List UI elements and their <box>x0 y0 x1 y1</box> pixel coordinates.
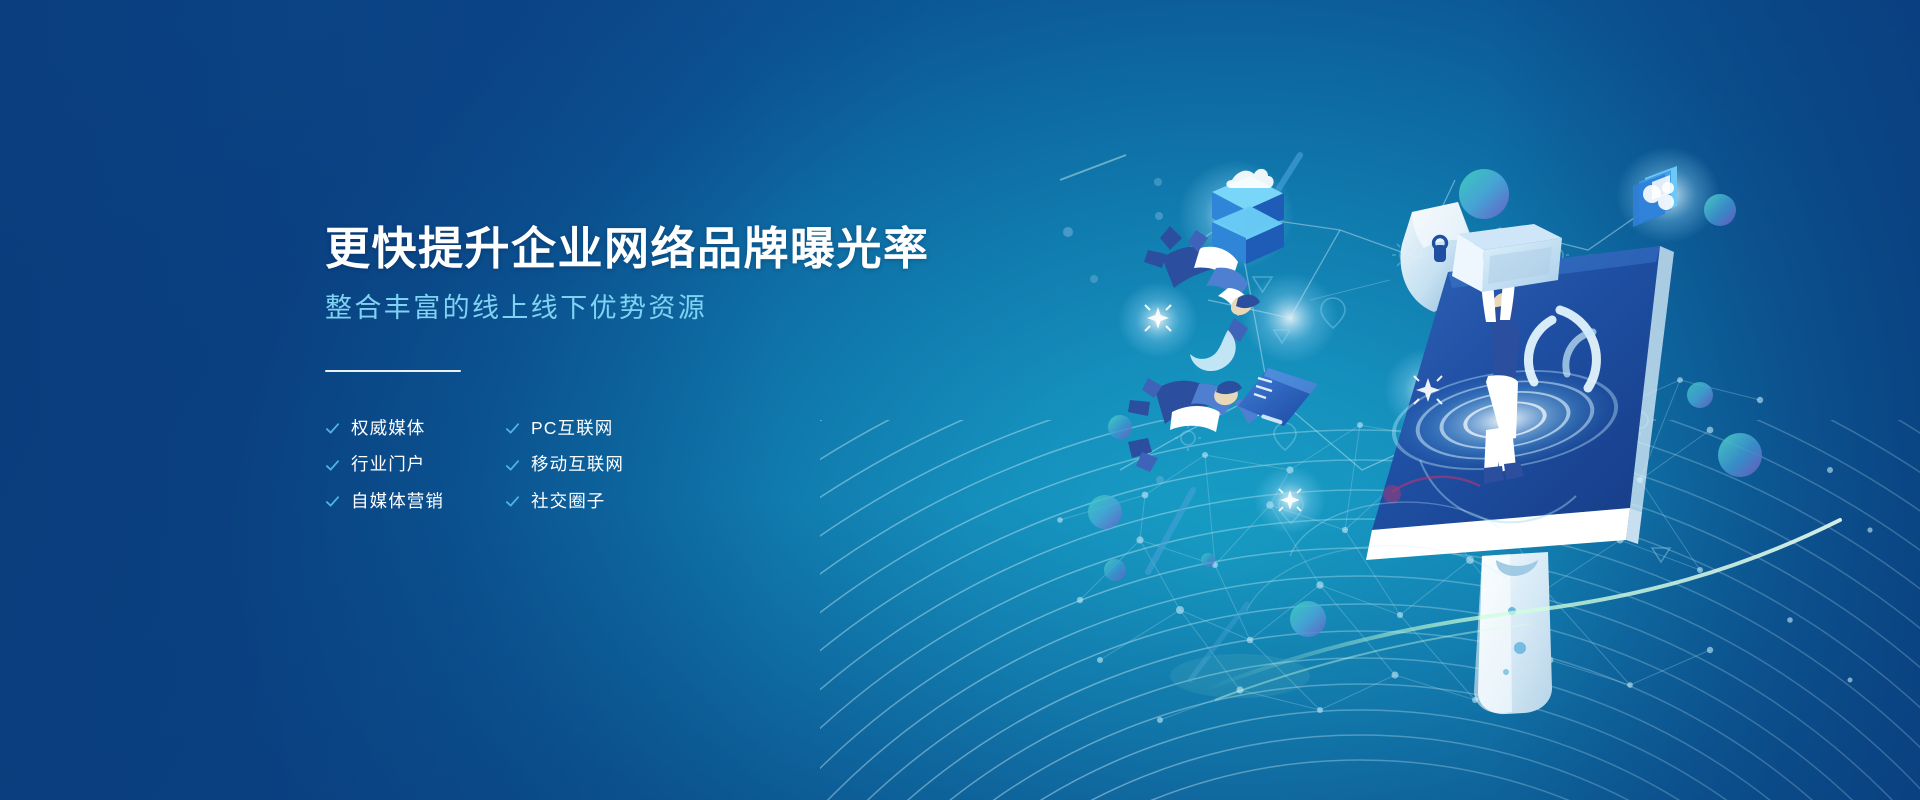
feature-item-self-media-marketing: 自媒体营销 <box>325 493 505 511</box>
feature-list: 权威媒体 PC互联网 行业门户 移动互联网 <box>325 420 1025 511</box>
feature-label: 移动互联网 <box>531 456 624 474</box>
monitor-stand-icon <box>1474 552 1552 714</box>
hero-banner: 更快提升企业网络品牌曝光率 整合丰富的线上线下优势资源 权威媒体 PC互联网 <box>0 0 1920 800</box>
hero-copy: 更快提升企业网络品牌曝光率 整合丰富的线上线下优势资源 权威媒体 PC互联网 <box>325 224 1025 510</box>
check-icon <box>505 458 520 473</box>
feature-item-industry-portal: 行业门户 <box>325 456 505 474</box>
check-icon <box>505 421 520 436</box>
page-title: 更快提升企业网络品牌曝光率 <box>325 224 1025 274</box>
feature-label: 社交圈子 <box>531 493 605 511</box>
feature-item-pc-internet: PC互联网 <box>505 420 685 438</box>
check-icon <box>325 421 340 436</box>
page-subtitle: 整合丰富的线上线下优势资源 <box>325 292 1025 324</box>
check-icon <box>325 458 340 473</box>
feature-label: PC互联网 <box>531 420 613 438</box>
feature-label: 行业门户 <box>351 456 425 474</box>
feature-label: 自媒体营销 <box>351 493 444 511</box>
laptop-icon <box>1452 224 1562 292</box>
feature-item-authoritative-media: 权威媒体 <box>325 420 505 438</box>
feature-label: 权威媒体 <box>351 420 425 438</box>
feature-item-social-circles: 社交圈子 <box>505 493 685 511</box>
check-icon <box>325 494 340 509</box>
feature-item-mobile-internet: 移动互联网 <box>505 456 685 474</box>
floating-person-lower-icon <box>1128 368 1318 472</box>
check-icon <box>505 494 520 509</box>
divider <box>325 370 461 372</box>
